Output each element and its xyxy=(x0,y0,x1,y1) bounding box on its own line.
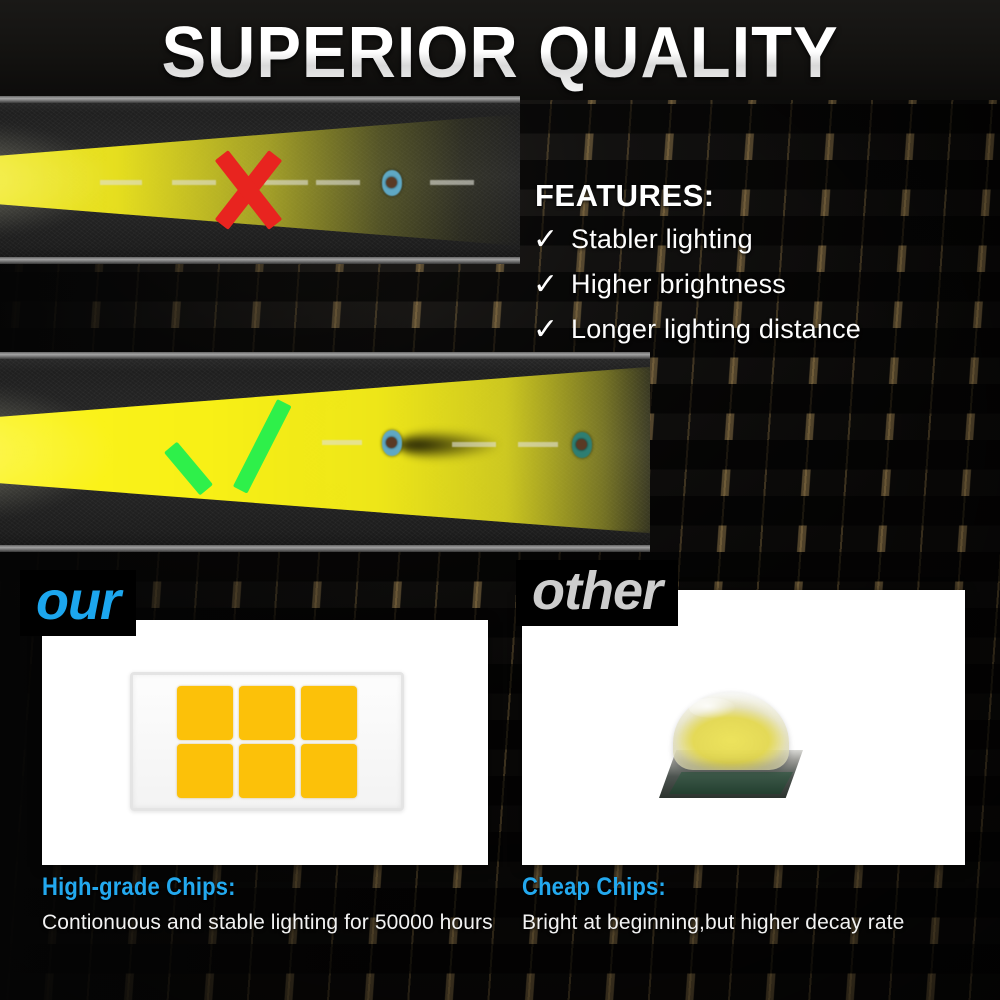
features-block: FEATURES: ✓ Stabler lighting ✓ Higher br… xyxy=(533,178,973,359)
csp-pad xyxy=(177,744,233,798)
lane-marking xyxy=(452,442,496,447)
road-figure xyxy=(382,430,402,456)
csp-pad xyxy=(239,686,295,740)
page-title: SUPERIOR QUALITY xyxy=(35,14,965,92)
lane-marking xyxy=(316,180,360,185)
features-heading: FEATURES: xyxy=(535,178,973,214)
caption-heading: Cheap Chips: xyxy=(522,872,927,902)
feature-label: Stabler lighting xyxy=(571,224,753,255)
csp-pad xyxy=(301,744,357,798)
check-mark-icon xyxy=(192,390,302,490)
caption-our: High-grade Chips: Contionuous and stable… xyxy=(42,872,502,937)
check-icon: ✓ xyxy=(533,225,571,255)
road-figure-head xyxy=(576,439,587,450)
caption-body: Contionuous and stable lighting for 5000… xyxy=(42,908,502,937)
smd-led-pad xyxy=(669,772,793,794)
csp-pad xyxy=(177,686,233,740)
feature-item: ✓ Longer lighting distance xyxy=(533,314,973,345)
csp-chip-illustration xyxy=(130,672,404,811)
road-figure xyxy=(382,170,402,196)
x-mark-icon xyxy=(200,146,296,234)
caption-heading: High-grade Chips: xyxy=(42,872,447,902)
tag-our: our xyxy=(20,570,136,636)
feature-item: ✓ Stabler lighting xyxy=(533,224,973,255)
road-figure-head xyxy=(386,437,397,448)
feature-label: Longer lighting distance xyxy=(571,314,861,345)
road-scene-good-beam xyxy=(0,352,650,552)
caption-body: Bright at beginning,but higher decay rat… xyxy=(522,908,982,937)
lane-marking xyxy=(430,180,474,185)
smd-led-illustration xyxy=(655,690,807,798)
smd-led-highlight xyxy=(689,698,735,718)
csp-pad xyxy=(239,744,295,798)
road-figure-head xyxy=(386,177,397,188)
tag-other: other xyxy=(516,560,678,626)
caption-other: Cheap Chips: Bright at beginning,but hig… xyxy=(522,872,982,937)
check-icon: ✓ xyxy=(533,315,571,345)
feature-label: Higher brightness xyxy=(571,269,786,300)
lane-marking xyxy=(100,180,142,185)
product-poster: SUPERIOR QUALITY xyxy=(0,0,1000,1000)
lane-marking xyxy=(322,440,362,445)
feature-item: ✓ Higher brightness xyxy=(533,269,973,300)
csp-pad xyxy=(301,686,357,740)
check-icon: ✓ xyxy=(533,270,571,300)
road-figure xyxy=(572,432,592,458)
lane-marking xyxy=(518,442,558,447)
